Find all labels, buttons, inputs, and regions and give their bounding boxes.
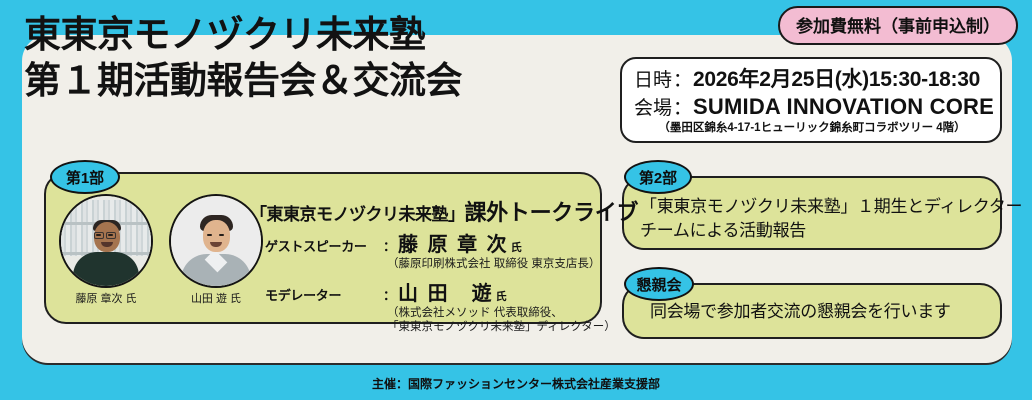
venue-address: （墨田区錦糸4-17-1ヒューリック錦糸町コラボツリー 4階） [634,119,990,135]
page-title: 東東京モノヅクリ未来塾 第１期活動報告会＆交流会 [24,12,604,104]
date-label: 日時 [634,65,672,92]
date-colon: ： [672,65,693,92]
speaker-affiliation-moderator-line2: 「東東京モノヅクリ未来塾」ディレクター） [387,320,616,334]
speaker-colon: ： [383,236,396,255]
speaker-photo-caption: 山田 遊 氏 [168,290,264,306]
date-row: 日時 ： 2026年2月25日(水)15:30-18:30 [634,63,990,93]
social-body: 同会場で参加者交流の懇親会を行います [650,300,951,324]
speaker-name-guest: 藤 原 章 次 [398,228,509,257]
part2-body: 「東東京モノヅクリ未来塾」１期生とディレクター チームによる活動報告 [640,195,1022,243]
speaker-row-moderator: モデレーター ： 山 田 遊 氏 [265,277,616,306]
part1-heading: 「東東京モノヅクリ未来塾」課外トークライブ [250,195,638,227]
organizer-footer: 主催：国際ファッションセンター株式会社産業支援部 [0,375,1032,392]
speaker-affiliation-guest: （藤原印刷株式会社 取締役 東京支店長） [387,257,616,271]
speaker-photo-item: 藤原 章次 氏 [58,194,154,306]
speaker-affiliation-moderator-line1: （株式会社メソッド 代表取締役、 [387,306,616,320]
section-tag-part1: 第1部 [50,160,120,194]
event-poster: 東東京モノヅクリ未来塾 第１期活動報告会＆交流会 参加費無料（事前申込制） 日時… [0,0,1032,400]
portrait-fujiwara-photo [59,194,153,288]
section-tag-part2: 第2部 [624,160,692,194]
part1-heading-quote: 「東東京モノヅクリ未来塾」 [250,205,465,224]
event-info-box: 日時 ： 2026年2月25日(水)15:30-18:30 会場 ： SUMID… [620,57,1002,143]
title-line-2: 第１期活動報告会＆交流会 [24,58,604,104]
speaker-row-guest: ゲストスピーカー ： 藤 原 章 次 氏 [265,228,616,257]
speaker-role-guest: ゲストスピーカー [265,236,383,255]
speaker-list: ゲストスピーカー ： 藤 原 章 次 氏 （藤原印刷株式会社 取締役 東京支店長… [265,228,616,334]
part2-body-line1: 「東東京モノヅクリ未来塾」１期生とディレクター [640,195,1022,219]
venue-value: SUMIDA INNOVATION CORE [693,94,994,120]
venue-colon: ： [672,93,693,120]
speaker-honorific: 氏 [511,239,522,255]
portrait-yamada-photo [169,194,263,288]
speaker-colon: ： [383,285,396,304]
speaker-photo-group: 藤原 章次 氏 山田 遊 氏 [58,194,264,306]
section-tag-social: 懇親会 [624,267,694,301]
part1-heading-main: 課外トークライブ [465,200,639,225]
venue-label: 会場 [634,93,672,120]
social-body-line1: 同会場で参加者交流の懇親会を行います [650,300,951,324]
part2-body-line2: チームによる活動報告 [640,219,1022,243]
speaker-role-moderator: モデレーター [265,285,383,304]
title-line-1: 東東京モノヅクリ未来塾 [24,12,604,58]
venue-row: 会場 ： SUMIDA INNOVATION CORE [634,93,990,120]
speaker-photo-caption: 藤原 章次 氏 [58,290,154,306]
free-admission-badge: 参加費無料（事前申込制） [778,6,1018,45]
speaker-name-moderator: 山 田 遊 [398,277,494,306]
speaker-honorific: 氏 [496,288,507,304]
date-value: 2026年2月25日(水)15:30-18:30 [693,63,980,93]
